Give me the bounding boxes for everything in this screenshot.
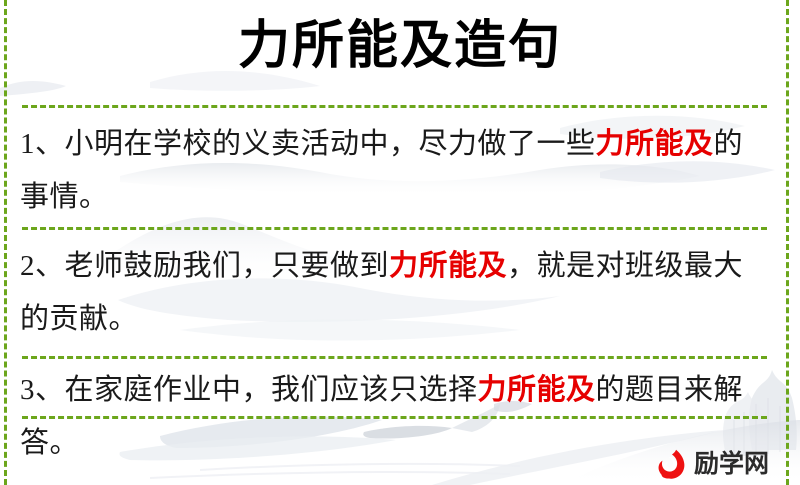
sentence-item-1: 1、小明在学校的义卖活动中，尽力做了一些力所能及的事情。 [20,118,768,224]
sentence-number-2: 2、 [20,250,65,282]
sentence-number-1: 1、 [20,128,65,160]
sentence-text-before-2: 老师鼓励我们，只要做到 [65,250,390,282]
idiom-highlight-1: 力所能及 [596,128,714,160]
separator-line-3 [22,356,767,359]
separator-line-2 [22,227,767,230]
idiom-highlight-3: 力所能及 [478,374,596,406]
sentence-text-before-1: 小明在学校的义卖活动中，尽力做了一些 [65,128,596,160]
sentence-text-before-3: 在家庭作业中，我们应该只选择 [65,374,478,406]
slide-page: 力所能及造句 1、小明在学校的义卖活动中，尽力做了一些力所能及的事情。 2、老师… [0,0,800,485]
brand-watermark: 励学网 [655,446,783,482]
separator-line-1 [22,105,767,108]
sentence-item-2: 2、老师鼓励我们，只要做到力所能及，就是对班级最大的贡献。 [20,240,768,346]
swirl-flame-icon [655,447,689,481]
sentence-number-3: 3、 [20,374,65,406]
page-title: 力所能及造句 [0,12,800,82]
brand-name: 励学网 [694,450,769,478]
idiom-highlight-2: 力所能及 [389,250,507,282]
